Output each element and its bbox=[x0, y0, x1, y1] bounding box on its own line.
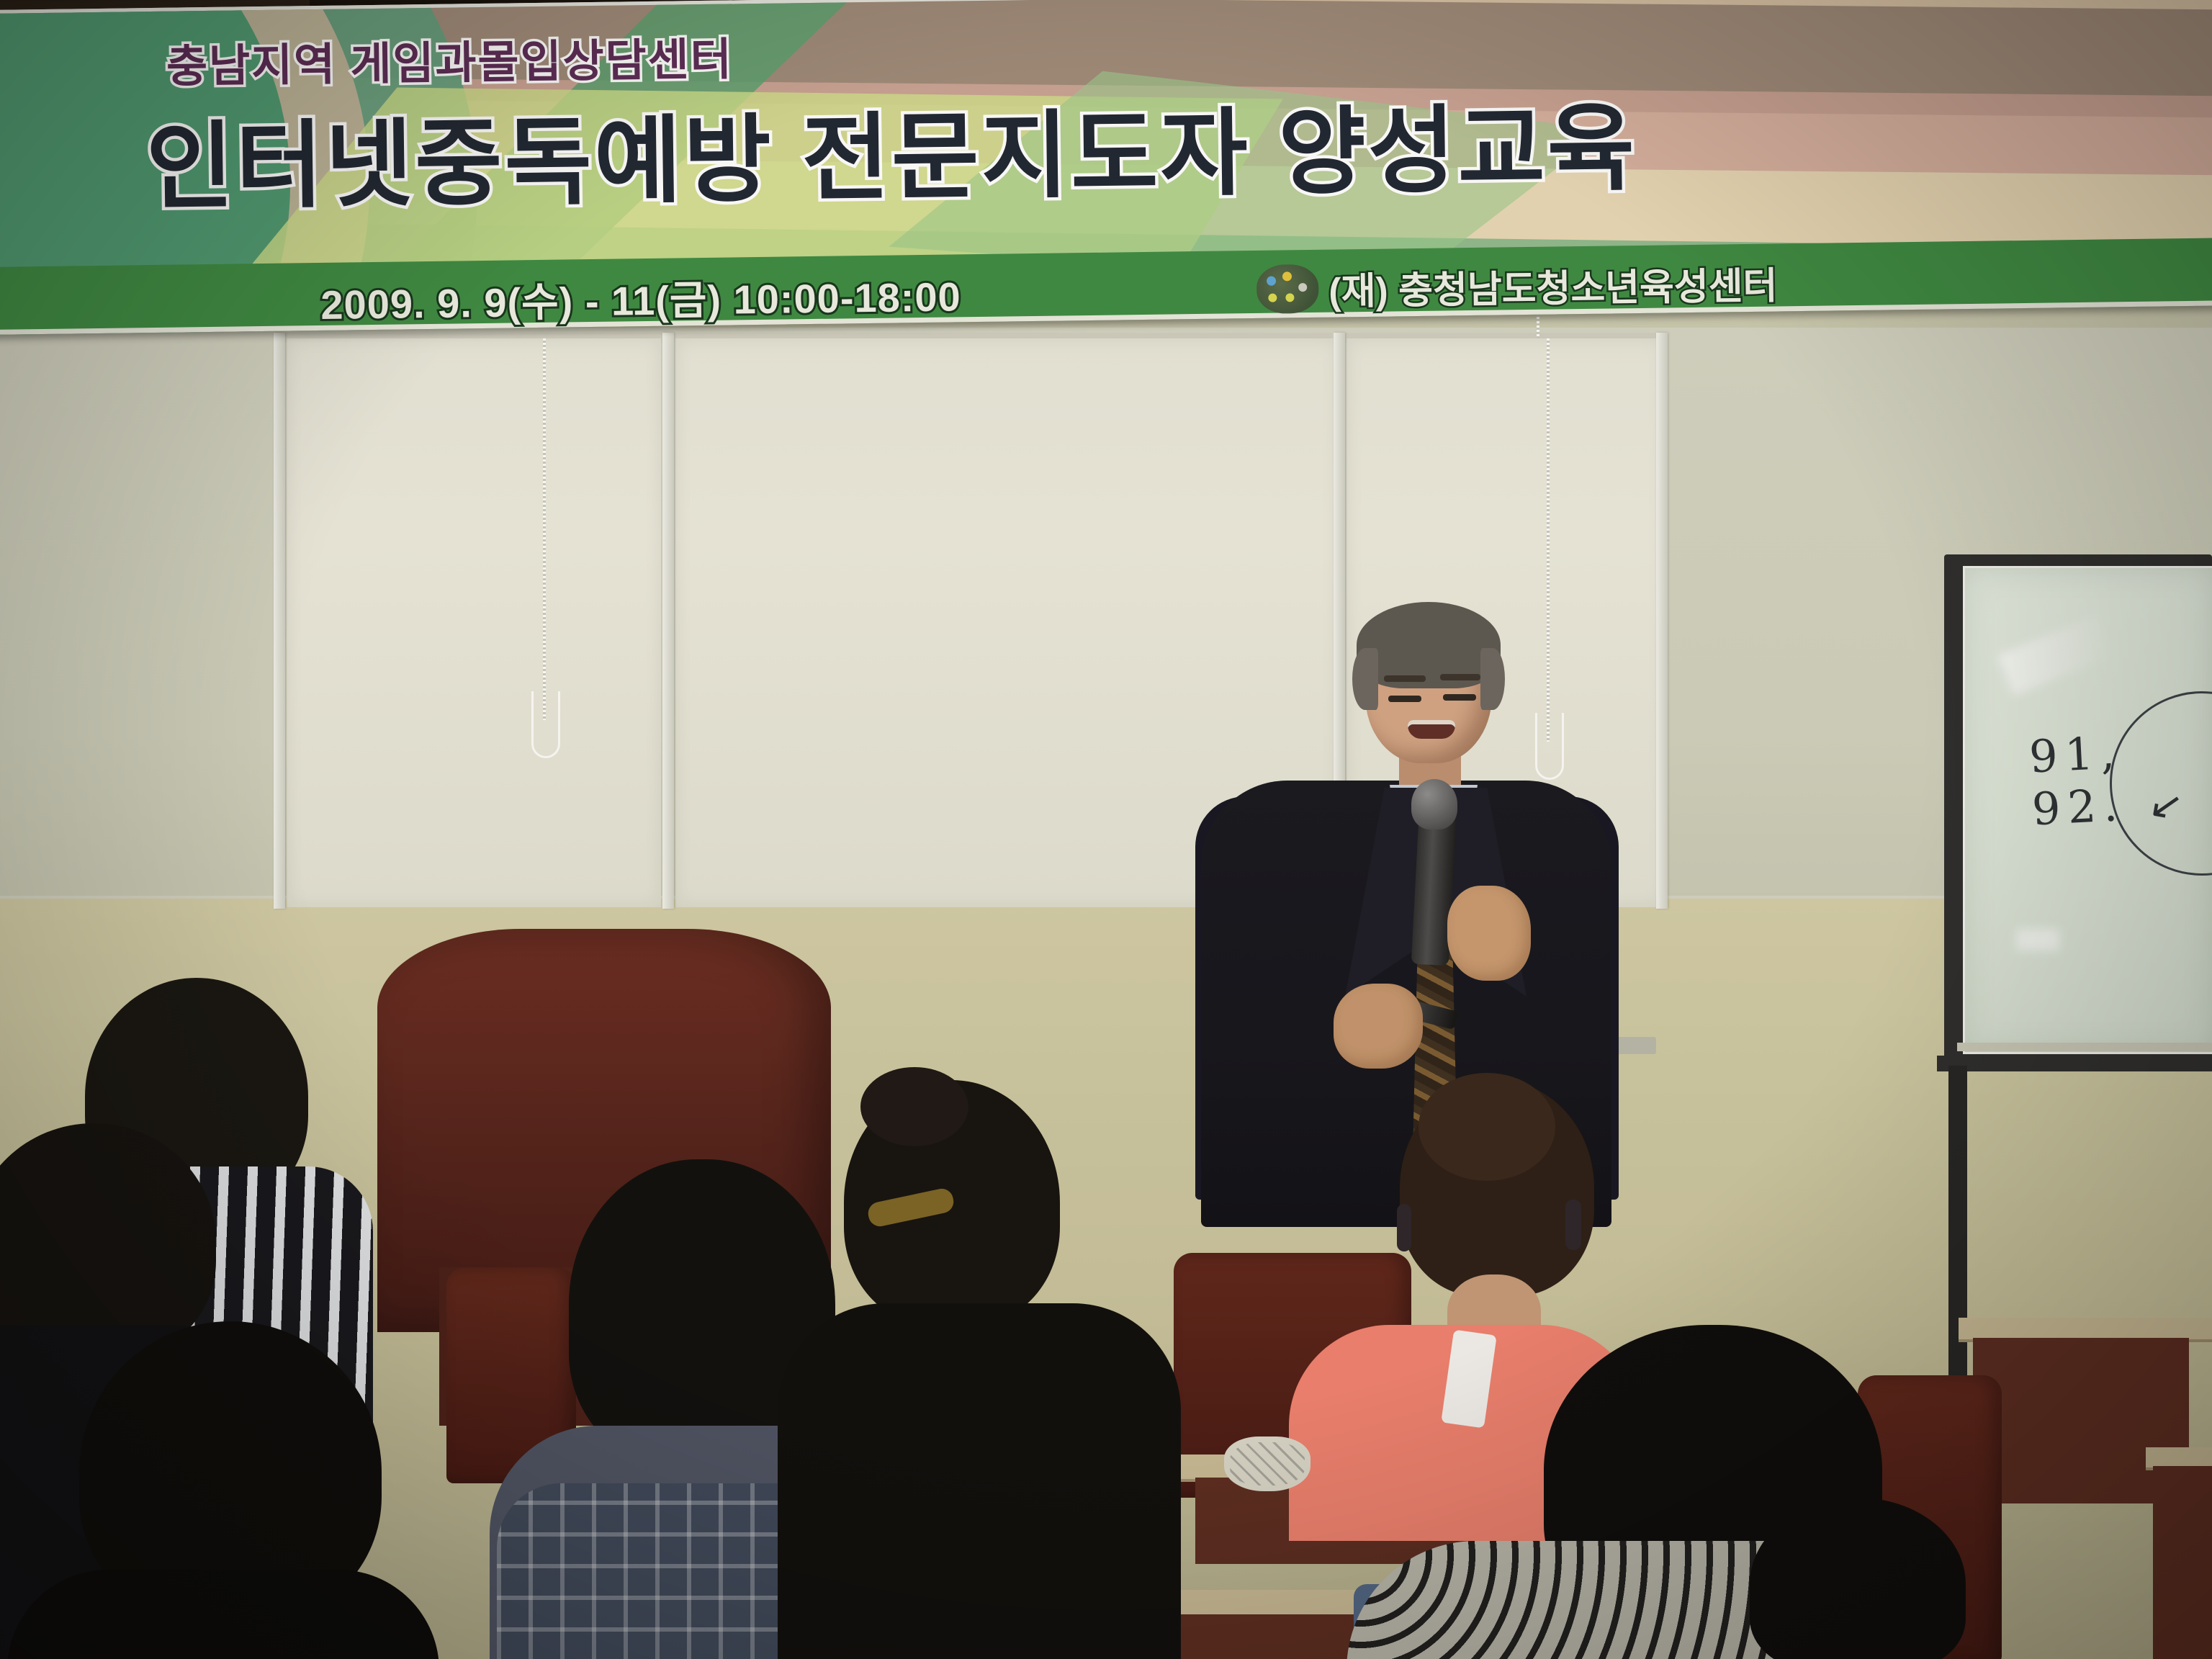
speaker-eye-right bbox=[1443, 694, 1476, 701]
patterned-pouch bbox=[1224, 1437, 1310, 1491]
speaker-eye-left bbox=[1388, 696, 1421, 702]
speaker-hand-left bbox=[1334, 984, 1423, 1069]
desk-top-far-right bbox=[2146, 1447, 2212, 1467]
window-mullion-1 bbox=[274, 333, 285, 909]
blind-cord-loop-right[interactable] bbox=[1535, 713, 1564, 780]
desk-top-back-right bbox=[1959, 1318, 2212, 1339]
event-banner: 충남지역 게임과몰입상담센터 인터넷중독예방 전문지도자 양성교육 2009. … bbox=[0, 0, 2212, 335]
whiteboard-ledge bbox=[1957, 1043, 2212, 1051]
window-mullion-4 bbox=[1656, 333, 1668, 909]
earring-right bbox=[1565, 1200, 1581, 1250]
organizer-logo-icon bbox=[1256, 264, 1319, 314]
audience-body-hair-clip-woman bbox=[778, 1303, 1181, 1659]
audience-head-far-right bbox=[1750, 1498, 1966, 1659]
audience-body-foreground-left bbox=[7, 1570, 439, 1659]
whiteboard-tray bbox=[1937, 1056, 2212, 1071]
speaker-brow-left bbox=[1384, 675, 1426, 682]
banner-title: 인터넷중독예방 전문지도자 양성교육 bbox=[145, 63, 2212, 228]
speaker-brow-right bbox=[1440, 674, 1480, 680]
speaker-mouth bbox=[1408, 720, 1455, 739]
audience-hair-bun-coral-woman bbox=[1419, 1073, 1555, 1181]
window-mullion-2 bbox=[662, 333, 674, 909]
blind-cord-left[interactable] bbox=[543, 338, 546, 720]
speaker-hair-side-right bbox=[1480, 648, 1505, 710]
microphone-head-icon bbox=[1411, 779, 1457, 829]
speaker-hand-right bbox=[1447, 886, 1531, 981]
blind-cord-loop-left[interactable] bbox=[531, 691, 560, 758]
whiteboard-glare-2 bbox=[2016, 929, 2059, 950]
speaker-hair-side-left bbox=[1352, 648, 1378, 710]
blind-cord-right[interactable] bbox=[1547, 338, 1550, 742]
banner-organizer: (재) 충청남도청소년육성센터 bbox=[1328, 255, 1778, 315]
earring-left bbox=[1397, 1204, 1411, 1251]
desk-panel-far-right bbox=[2153, 1466, 2212, 1659]
whiteboard-written-text: 91, 92. bbox=[2028, 721, 2212, 836]
photo-scene: 충남지역 게임과몰입상담센터 인터넷중독예방 전문지도자 양성교육 2009. … bbox=[0, 0, 2212, 1659]
audience-hair-bun-clip-woman bbox=[860, 1067, 968, 1146]
banner-date-time: 2009. 9. 9(수) - 11(금) 10:00-18:00 bbox=[320, 264, 961, 331]
window-blind-left[interactable] bbox=[287, 338, 661, 907]
